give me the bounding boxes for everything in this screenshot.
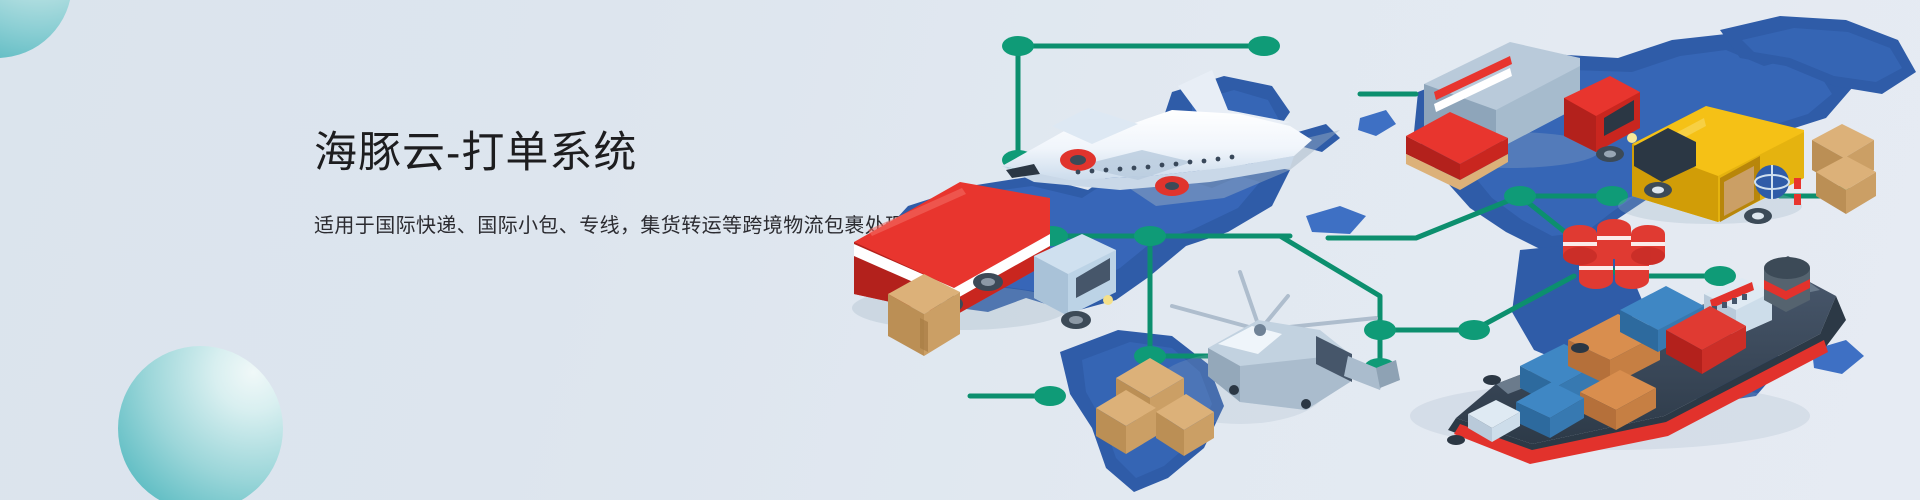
cardboard-boxes-icon xyxy=(1812,124,1876,214)
isometric-world-logistics-map xyxy=(820,0,1920,500)
teal-gradient-circle-bottom-left xyxy=(118,346,283,500)
helicopter-icon xyxy=(1096,272,1400,456)
teal-gradient-circle-top-left xyxy=(0,0,72,58)
hero-banner: 海豚云-打单系统 适用于国际快递、国际小包、专线，集货转运等跨境物流包裹处理 xyxy=(0,0,1920,500)
